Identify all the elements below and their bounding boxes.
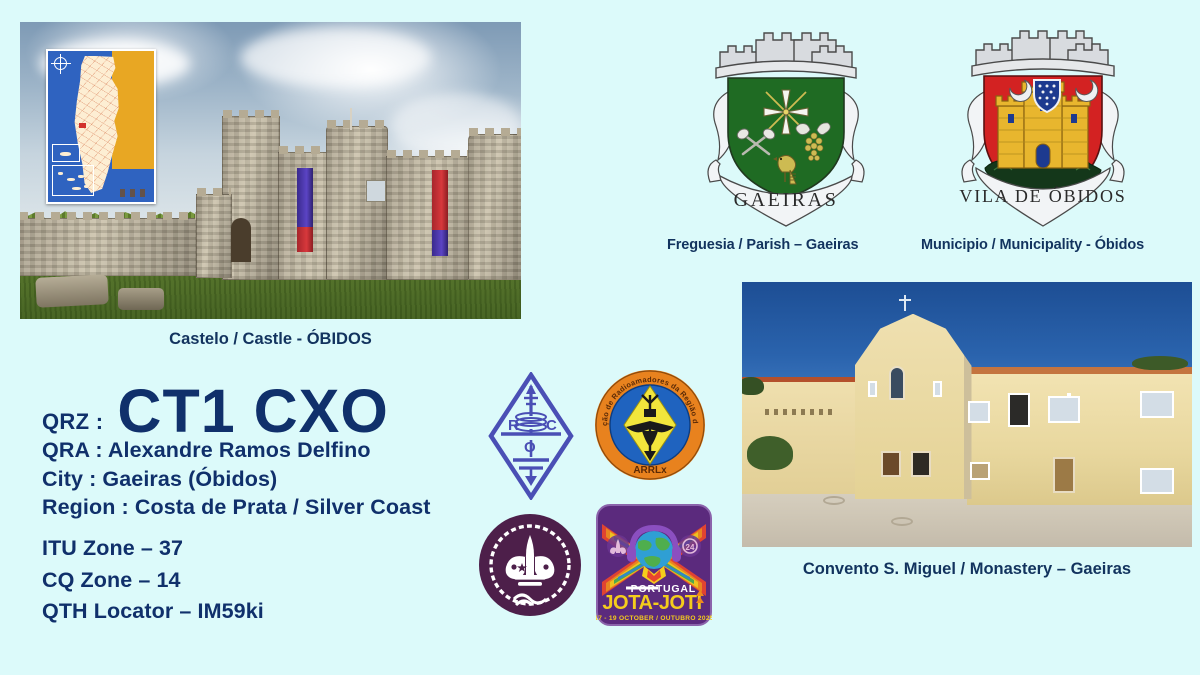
monastery-caption: Convento S. Miguel / Monastery – Gaeiras xyxy=(742,560,1192,579)
battlement xyxy=(20,212,212,220)
building-window xyxy=(1048,396,1080,423)
foreground-rock xyxy=(118,288,164,310)
battlement xyxy=(197,188,231,196)
map-scale-bar xyxy=(120,189,150,197)
itu-zone-line: ITU Zone – 37 xyxy=(42,533,264,565)
building-window xyxy=(1067,393,1071,397)
region-line: Region : Costa de Prata / Silver Coast xyxy=(42,493,431,522)
battlement xyxy=(469,128,521,136)
building-small-window xyxy=(970,462,990,480)
jota-title: JOTA-JOTI xyxy=(602,592,701,614)
castle-right-tower xyxy=(468,134,521,280)
cq-zone-line: CQ Zone – 14 xyxy=(42,565,264,597)
map-location-marker xyxy=(79,123,86,128)
gaeiras-caption: Freguesia / Parish – Gaeiras xyxy=(667,237,858,253)
castle-outer-wall xyxy=(20,218,213,276)
gothic-window xyxy=(889,366,905,400)
castle-small-tower xyxy=(196,194,232,278)
building-window xyxy=(968,401,990,423)
building-tall-window xyxy=(1008,393,1030,427)
cloud xyxy=(240,28,430,87)
arrlx-association-logo: Associação de Radioamadores da Região de… xyxy=(594,369,706,481)
gaeiras-parish-coat-of-arms: GAEIRAS xyxy=(686,20,886,232)
pavement-marker xyxy=(823,496,845,505)
qsl-card: Castelo / Castle - ÓBIDOS xyxy=(0,0,1200,675)
castle-central-tower xyxy=(326,126,388,280)
building-window xyxy=(1140,468,1174,494)
chapel-side-window xyxy=(868,381,877,397)
rep-letter-c: C xyxy=(546,417,557,434)
cross-icon xyxy=(904,295,906,311)
castle-gate xyxy=(231,218,251,262)
building-door xyxy=(1053,457,1075,493)
castle-window xyxy=(366,180,386,202)
castle-banner-left xyxy=(297,168,313,252)
map-inset-azores xyxy=(52,165,94,196)
foreground-rock xyxy=(35,274,108,308)
svg-text:24: 24 xyxy=(686,543,695,552)
battlement xyxy=(327,120,387,128)
rep-letter-r: R xyxy=(508,417,519,434)
city-line: City : Gaeiras (Óbidos) xyxy=(42,465,431,494)
battlement xyxy=(223,110,279,118)
chapel-entrance xyxy=(911,451,931,477)
tree-foliage xyxy=(742,377,764,395)
arrlx-acronym: ARRLx xyxy=(633,465,667,476)
obidos-caption: Municipio / Municipality - Óbidos xyxy=(921,237,1144,253)
jota-joti-portugal-2025-logo: 24 PORTUGAL JOTA-JOTI xyxy=(596,504,712,626)
flagpole xyxy=(350,108,352,130)
portugal-location-map xyxy=(46,49,156,204)
world-scout-emblem-logo xyxy=(478,513,582,617)
monastery-caption-text: Convento S. Miguel / Monastery – Gaeiras xyxy=(803,560,1131,578)
chapel-door xyxy=(881,451,901,477)
obidos-municipality-coat-of-arms: VILA DE ÓBIDOS xyxy=(938,18,1148,232)
castle-banner-right xyxy=(432,170,448,256)
map-inset-madeira xyxy=(52,144,80,162)
callsign-row: QRZ : CT1 CXO xyxy=(42,386,431,436)
qth-locator-line: QTH Locator – IM59ki xyxy=(42,596,264,628)
chapel-side-window xyxy=(933,381,942,397)
castle-caption-text: Castelo / Castle - ÓBIDOS xyxy=(169,330,372,348)
gaeiras-scroll-text: GAEIRAS xyxy=(734,189,839,211)
qrz-label: QRZ : xyxy=(42,411,103,436)
building-window xyxy=(1140,391,1174,418)
pavement-marker xyxy=(891,517,913,526)
callsign: CT1 CXO xyxy=(117,386,388,436)
castle-caption: Castelo / Castle - ÓBIDOS xyxy=(20,330,521,349)
rep-rede-dos-emissores-portugueses-logo: R C O xyxy=(488,372,574,500)
tree-foliage xyxy=(1132,356,1188,370)
vine-foliage xyxy=(747,436,793,470)
convento-sao-miguel-photo xyxy=(742,282,1192,547)
zone-info-block: ITU Zone – 37 CQ Zone – 14 QTH Locator –… xyxy=(42,533,264,628)
map-ocean xyxy=(48,51,154,202)
arcade-detail xyxy=(765,409,837,415)
monastery-chapel-facade xyxy=(855,314,972,500)
station-info-block: QRZ : CT1 CXO QRA : Alexandre Ramos Delf… xyxy=(42,386,431,522)
compass-icon xyxy=(54,57,67,70)
castle-of-obidos-photo xyxy=(20,22,521,319)
jota-dates: 17 - 19 OCTOBER / OUTUBRO 2025 xyxy=(596,615,712,622)
obidos-scroll-text: VILA DE ÓBIDOS xyxy=(959,185,1126,206)
